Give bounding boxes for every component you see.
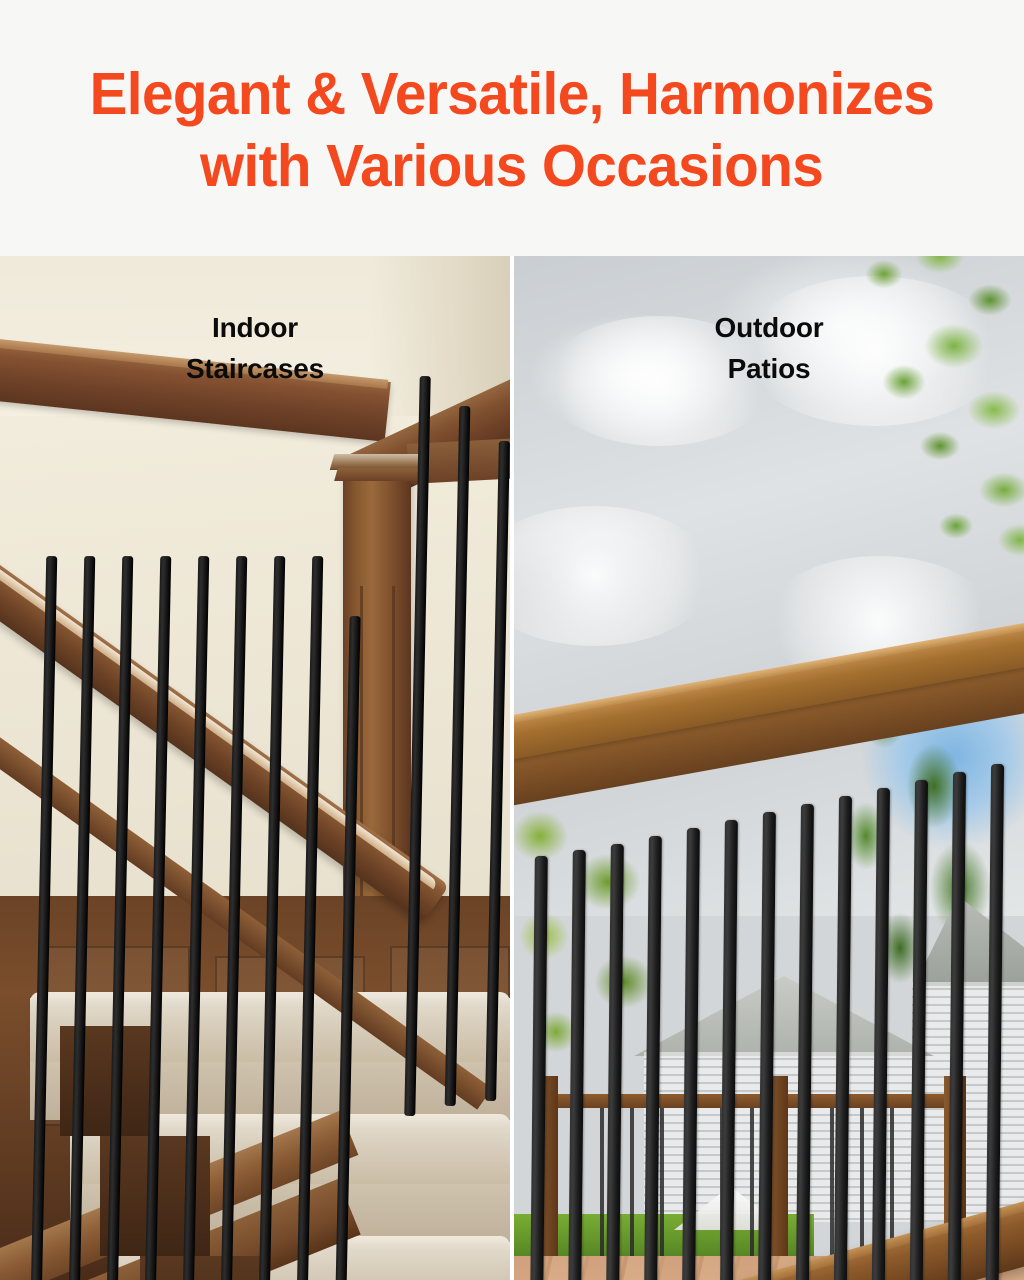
promo-image: Elegant & Versatile, Harmonizes with Var… [0,0,1024,1280]
panel-label-outdoor: Outdoor Patios [514,307,1024,389]
far-railing-baluster [890,1108,894,1258]
indoor-staircase-photo: Indoor Staircases [0,256,510,1280]
panel-label-indoor-line1: Indoor [0,307,510,348]
panel-label-indoor-line2: Staircases [0,348,510,389]
panel-label-outdoor-line2: Patios [514,348,1024,389]
outdoor-patio-photo: Outdoor Patios [514,256,1024,1280]
wood-trim-block-3 [140,1256,260,1280]
headline-line-1: Elegant & Versatile, Harmonizes [90,58,935,130]
panel-indoor-staircases: Indoor Staircases [0,256,510,1280]
far-railing-baluster [860,1108,864,1258]
far-railing-baluster [660,1108,664,1258]
panel-label-outdoor-line1: Outdoor [514,307,1024,348]
newel-post-cap-under [334,468,422,481]
far-railing-top-rail [534,1094,964,1108]
far-railing-baluster [750,1108,754,1258]
panel-outdoor-patios: Outdoor Patios [514,256,1024,1280]
panel-label-indoor: Indoor Staircases [0,307,510,389]
far-railing-baluster [630,1108,634,1258]
comparison-panels: Indoor Staircases [0,256,1024,1280]
far-railing-baluster [600,1108,604,1258]
tree-foliage-top-right [844,256,1024,570]
headline-banner: Elegant & Versatile, Harmonizes with Var… [0,0,1024,256]
headline-line-2: with Various Occasions [200,130,823,202]
